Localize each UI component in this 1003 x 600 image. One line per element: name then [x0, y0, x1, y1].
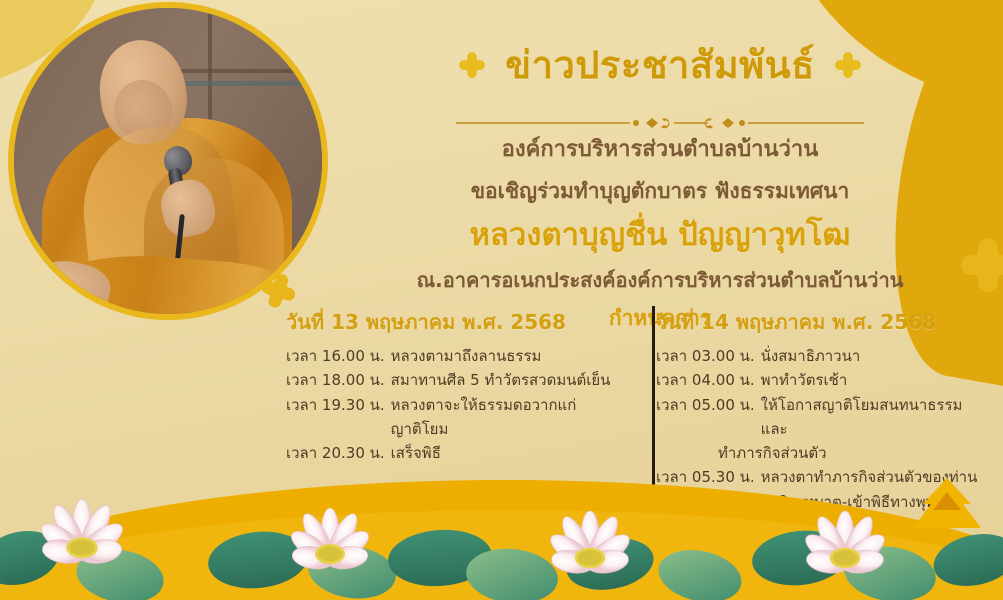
poster-canvas: ข่าวประชาสัมพันธ์ องค์การบริหารส่วนตำบลบ… — [0, 0, 1003, 600]
schedule-time: เวลา 18.00 น. — [286, 368, 385, 392]
schedule-activity: พาทำวัตรเช้า — [761, 368, 848, 392]
schedule-time: เวลา 03.00 น. — [656, 344, 755, 368]
monk-name: หลวงตาบุญชื่น ปัญญาวุทโฒ — [330, 215, 990, 257]
schedule-day1-list: เวลา 16.00 น. หลวงตามาถึงลานธรรม เวลา 18… — [286, 344, 622, 465]
quatrefoil-icon — [457, 51, 487, 81]
schedule-time: เวลา 04.00 น. — [656, 368, 755, 392]
list-item: เวลา 04.00 น. พาทำวัตรเช้า — [656, 368, 986, 392]
schedule-activity: สมาทานศีล 5 ทำวัตรสวดมนต์เย็น — [391, 368, 611, 392]
schedule-time: เวลา 20.30 น. — [286, 441, 385, 465]
schedule-activity: เสร็จพิธี — [391, 441, 441, 465]
list-item: เวลา 19.30 น. หลวงตาจะให้ธรรมดอวากแก่ญาต… — [286, 393, 622, 442]
organization-name: องค์การบริหารส่วนตำบลบ้านว่าน — [330, 133, 990, 166]
schedule-activity: นั่งสมาธิภาวนา — [761, 344, 861, 368]
list-item: เวลา 05.00 น. ให้โอกาสญาติโยมสนทนาธรรมแล… — [656, 393, 986, 466]
title-divider-ornament — [450, 117, 870, 129]
schedule-column-day1: วันที่ 13 พฤษภาคม พ.ศ. 2568 เวลา 16.00 น… — [286, 306, 638, 465]
list-item: เวลา 18.00 น. สมาทานศีล 5 ทำวัตรสวดมนต์เ… — [286, 368, 622, 392]
list-item: เวลา 03.00 น. นั่งสมาธิภาวนา — [656, 344, 986, 368]
schedule-time: เวลา 19.30 น. — [286, 393, 385, 442]
list-item: เวลา 16.00 น. หลวงตามาถึงลานธรรม — [286, 344, 622, 368]
schedule-activity: หลวงตามาถึงลานธรรม — [391, 344, 542, 368]
schedule-activity: ให้โอกาสญาติโยมสนทนาธรรมและ — [761, 393, 986, 442]
page-title: ข่าวประชาสัมพันธ์ — [505, 43, 815, 88]
schedule-day2-heading: วันที่ 14 พฤษภาคม พ.ศ. 2568 — [656, 306, 986, 338]
venue-line: ณ.อาคารอเนกประสงค์องค์การบริหารส่วนตำบลบ… — [330, 266, 990, 295]
quatrefoil-icon — [833, 51, 863, 81]
schedule-day1-heading: วันที่ 13 พฤษภาคม พ.ศ. 2568 — [286, 306, 622, 338]
schedule-time: เวลา 16.00 น. — [286, 344, 385, 368]
heading-block: ข่าวประชาสัมพันธ์ องค์การบริหารส่วนตำบลบ… — [330, 18, 990, 335]
lotus-border-decoration — [0, 480, 1003, 600]
schedule-time: เวลา 05.00 น. — [656, 393, 755, 442]
schedule-activity-continued: ทำภารกิจส่วนตัว — [656, 441, 986, 465]
schedule-activity: หลวงตาจะให้ธรรมดอวากแก่ญาติโยม — [391, 393, 622, 442]
invitation-line: ขอเชิญร่วมทำบุญตักบาตร ฟังธรรมเทศนา — [330, 176, 990, 208]
monk-portrait-photo — [8, 2, 328, 320]
list-item: เวลา 20.30 น. เสร็จพิธี — [286, 441, 622, 465]
title-row: ข่าวประชาสัมพันธ์ — [330, 18, 990, 114]
